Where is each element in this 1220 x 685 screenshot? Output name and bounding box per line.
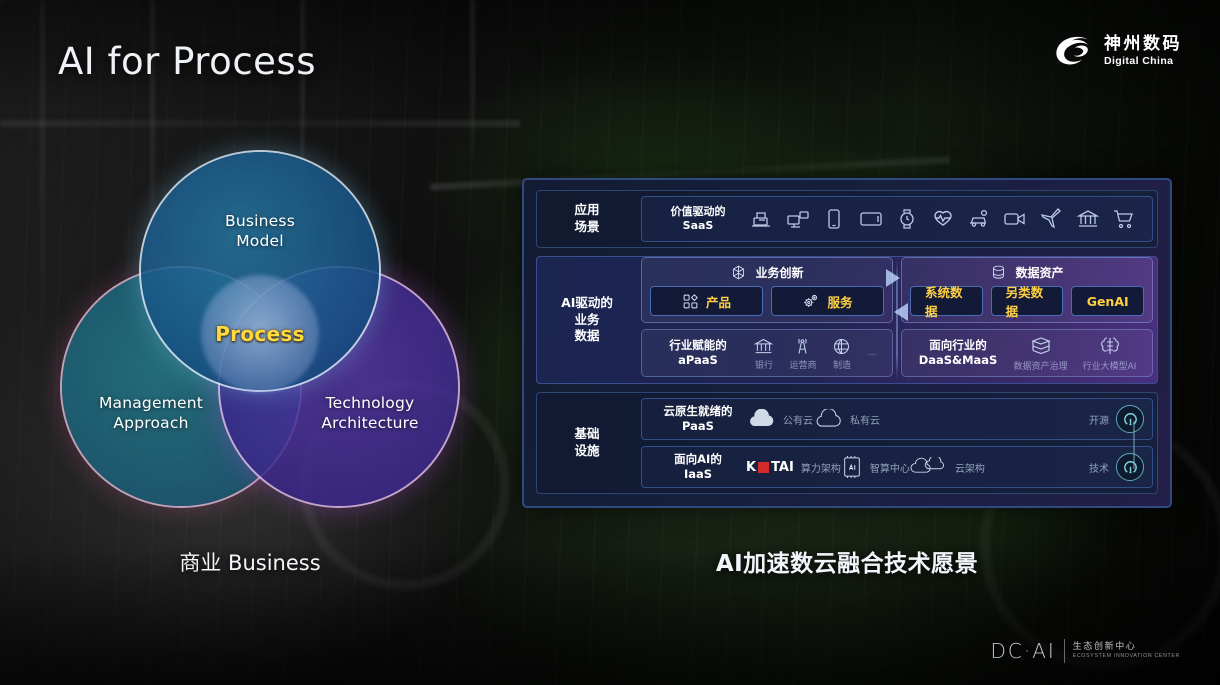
data-governance: 数据资产治理 <box>1014 334 1068 372</box>
desktop-workstation-icon <box>786 207 810 231</box>
ai-compute-center-label: 智算中心 <box>870 460 910 475</box>
caption-ai-vision: AI加速数云融合技术愿景 <box>622 544 1072 578</box>
paas-item-list: 公有云 私有云 开源 <box>746 405 1144 433</box>
ai-server-icon <box>841 455 863 479</box>
footer-watermark: DC·AI 生态创新中心 ECOSYSTEM INNOVATION CENTER <box>990 639 1180 663</box>
industry-more: … <box>867 348 876 358</box>
iaas-row: 面向AI的IaaS KTAI 算力架构 <box>641 446 1153 488</box>
bank-icon <box>1076 207 1100 231</box>
footer-name-cn: 生态创新中心 <box>1073 642 1180 652</box>
brand-logo: 神州数码 Digital China <box>1053 34 1182 68</box>
technology-group: 技术 <box>1089 453 1144 481</box>
band-ai-driven-business-data: AI驱动的业务数据 <box>536 256 1158 384</box>
smartphone-icon <box>822 207 846 231</box>
industry-bank-label: 银行 <box>755 358 773 371</box>
industry-carrier-label: 运营商 <box>789 358 816 371</box>
industry-llm: 行业大模型AI <box>1083 334 1137 372</box>
open-source-label: 开源 <box>1089 412 1109 427</box>
architecture-panel: 应用场景 价值驱动的SaaS <box>522 178 1172 508</box>
footer-mark: DC·AI <box>990 639 1055 663</box>
business-innovation-title: 业务创新 <box>755 264 803 281</box>
private-cloud-label: 私有云 <box>850 412 880 427</box>
chip-service-label: 服务 <box>827 292 852 311</box>
data-assets-chips: 系统数据 另类数据 GenAI <box>910 286 1144 316</box>
apaas-tag: 行业赋能的aPaaS <box>650 338 746 368</box>
public-cloud: 公有云 <box>746 409 813 429</box>
bidirectional-arrow-icon <box>884 267 910 289</box>
band-label-ai-data: AI驱动的业务数据 <box>537 257 637 383</box>
open-source-rail <box>1133 421 1135 469</box>
heartbeat-icon <box>931 207 955 231</box>
database-icon <box>990 264 1007 281</box>
chip-product-label: 产品 <box>706 292 731 311</box>
venn-label-process: Process <box>210 322 310 346</box>
open-source-icon <box>1116 453 1144 481</box>
scenario-row: 价值驱动的SaaS <box>641 196 1153 242</box>
neural-cube-icon <box>730 264 747 281</box>
cloud-filled-icon <box>746 409 776 429</box>
band-label-application: 应用场景 <box>537 191 637 247</box>
multi-cloud-icon <box>910 457 948 477</box>
private-cloud: 私有云 <box>813 409 880 429</box>
ai-compute-center: 智算中心 <box>841 455 910 479</box>
chip-alternative-data[interactable]: 另类数据 <box>991 286 1064 316</box>
chip-product[interactable]: 产品 <box>650 286 763 316</box>
business-innovation-group: 业务创新 产品 <box>637 257 897 383</box>
open-source-icon <box>1116 405 1144 433</box>
data-assets-title: 数据资产 <box>1015 264 1063 281</box>
compute-architecture-label: 算力架构 <box>801 460 841 475</box>
gears-icon <box>802 292 820 310</box>
band-application-scenarios: 应用场景 价值驱动的SaaS <box>536 190 1158 248</box>
cloud-architecture: 云架构 <box>910 457 985 477</box>
brain-ai-icon <box>1098 334 1122 358</box>
scenario-tag-saas: 价值驱动的SaaS <box>652 205 744 234</box>
laptop-printer-icon <box>750 207 774 231</box>
airplane-icon <box>1039 207 1063 231</box>
daas-maas-tag: 面向行业的DaaS&MaaS <box>910 338 1006 368</box>
industry-manufacturing-label: 制造 <box>833 358 851 371</box>
cloud-architecture-label: 云架构 <box>955 460 985 475</box>
chip-system-data[interactable]: 系统数据 <box>910 286 983 316</box>
open-source-group: 开源 <box>1089 405 1144 433</box>
brand-name-en: Digital China <box>1104 56 1182 67</box>
gear-globe-icon <box>831 336 852 357</box>
antenna-tower-icon <box>792 336 813 357</box>
kuntai-compute: KTAI 算力架构 <box>746 460 841 475</box>
footer-divider <box>1064 639 1065 663</box>
ellipsis-icon: … <box>867 348 876 358</box>
technology-label: 技术 <box>1089 460 1109 475</box>
data-assets-group: 数据资产 系统数据 另类数据 GenAI 面向行业的DaaS&MaaS <box>897 257 1157 383</box>
blocks-icon <box>682 293 699 310</box>
slide-canvas: AI for Process 神州数码 Digital China Busine… <box>0 0 1220 685</box>
business-innovation-card: 业务创新 产品 <box>641 257 893 323</box>
smartwatch-icon <box>895 207 919 231</box>
video-camera-icon <box>1003 207 1027 231</box>
car-icon <box>967 207 991 231</box>
public-cloud-label: 公有云 <box>783 412 813 427</box>
footer-name-en: ECOSYSTEM INNOVATION CENTER <box>1073 654 1180 660</box>
industry-carrier: 运营商 <box>789 336 816 371</box>
business-innovation-chips: 产品 服务 <box>650 286 884 316</box>
bank-columns-icon <box>753 336 774 357</box>
data-governance-label: 数据资产治理 <box>1014 359 1068 372</box>
apaas-card: 行业赋能的aPaaS 银行 <box>641 329 893 377</box>
venn-label-technology: TechnologyArchitecture <box>290 394 450 434</box>
band-label-infrastructure: 基础设施 <box>537 393 637 493</box>
chip-service[interactable]: 服务 <box>771 286 884 316</box>
scenario-icon-list <box>744 207 1142 231</box>
daas-maas-item-list: 数据资产治理 行业大模型AI <box>1006 334 1144 372</box>
industry-bank: 银行 <box>753 336 774 371</box>
data-assets-header: 数据资产 <box>910 264 1144 281</box>
page-title: AI for Process <box>58 40 316 83</box>
iaas-item-list: KTAI 算力架构 智算中心 <box>746 453 1144 481</box>
chip-genai[interactable]: GenAI <box>1071 286 1144 316</box>
caption-business: 商业 Business <box>100 547 400 577</box>
industry-manufacturing: 制造 <box>831 336 852 371</box>
cloud-outline-icon <box>813 409 843 429</box>
daas-maas-card: 面向行业的DaaS&MaaS 数据资产治理 <box>901 329 1153 377</box>
iaas-tag: 面向AI的IaaS <box>650 452 746 482</box>
data-layers-icon <box>1029 334 1053 358</box>
venn-diagram: BusinessModel ManagementApproach Technol… <box>62 152 458 508</box>
brand-name-cn: 神州数码 <box>1104 36 1182 53</box>
kuntai-logo-icon: KTAI <box>746 460 794 475</box>
digital-china-swirl-icon <box>1053 34 1095 68</box>
bidirectional-arrow-icon <box>884 301 910 323</box>
tablet-icon <box>859 207 883 231</box>
paas-tag: 云原生就绪的PaaS <box>650 404 746 434</box>
band-infrastructure: 基础设施 云原生就绪的PaaS 公有云 <box>536 392 1158 494</box>
venn-label-business: BusinessModel <box>190 212 330 252</box>
shopping-cart-icon <box>1112 207 1136 231</box>
industry-llm-label: 行业大模型AI <box>1083 359 1137 372</box>
apaas-industry-list: 银行 运营商 <box>746 336 884 371</box>
data-assets-card: 数据资产 系统数据 另类数据 GenAI <box>901 257 1153 323</box>
venn-label-management: ManagementApproach <box>71 394 231 434</box>
paas-row: 云原生就绪的PaaS 公有云 私有云 <box>641 398 1153 440</box>
business-innovation-header: 业务创新 <box>650 264 884 281</box>
